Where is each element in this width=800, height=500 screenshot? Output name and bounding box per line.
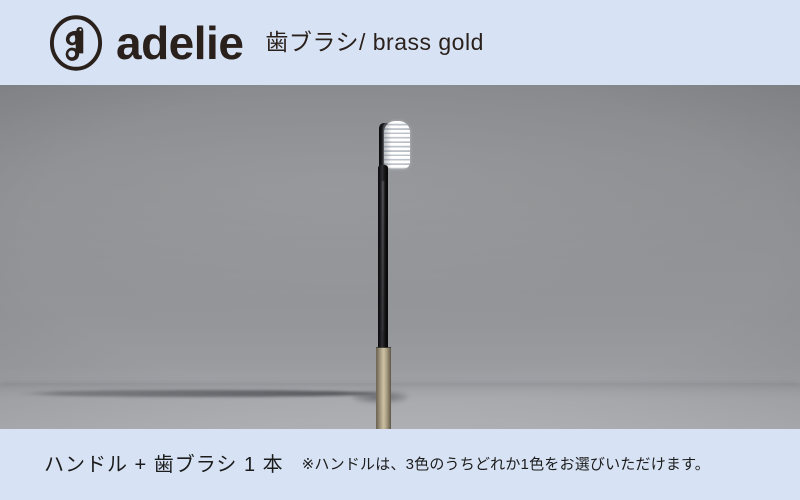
brand-wordmark: adelie: [116, 20, 243, 66]
caption-main-text: ハンドル + 歯ブラシ 1 本: [44, 455, 284, 475]
brass-handle: [376, 348, 391, 429]
product-banner: adelie 歯ブラシ/ brass gold ハンドル + 歯ブラシ 1 本 …: [0, 0, 800, 500]
adelie-penguin-circle-a-logo-icon: [48, 15, 104, 71]
product-cast-shadow: [18, 390, 378, 397]
toothbrush-product: [370, 121, 420, 401]
brush-neck-highlight: [382, 181, 384, 331]
header-bar: adelie 歯ブラシ/ brass gold: [0, 0, 800, 85]
product-photo: [0, 85, 800, 429]
caption-bar: ハンドル + 歯ブラシ 1 本 ※ハンドルは、3色のうちどれか1色をお選びいただ…: [0, 429, 800, 500]
caption-note-text: ※ハンドルは、3色のうちどれか1色をお選びいただけます。: [302, 457, 710, 472]
brush-bristles-shading: [383, 120, 391, 170]
product-subtitle: 歯ブラシ/ brass gold: [265, 31, 483, 54]
